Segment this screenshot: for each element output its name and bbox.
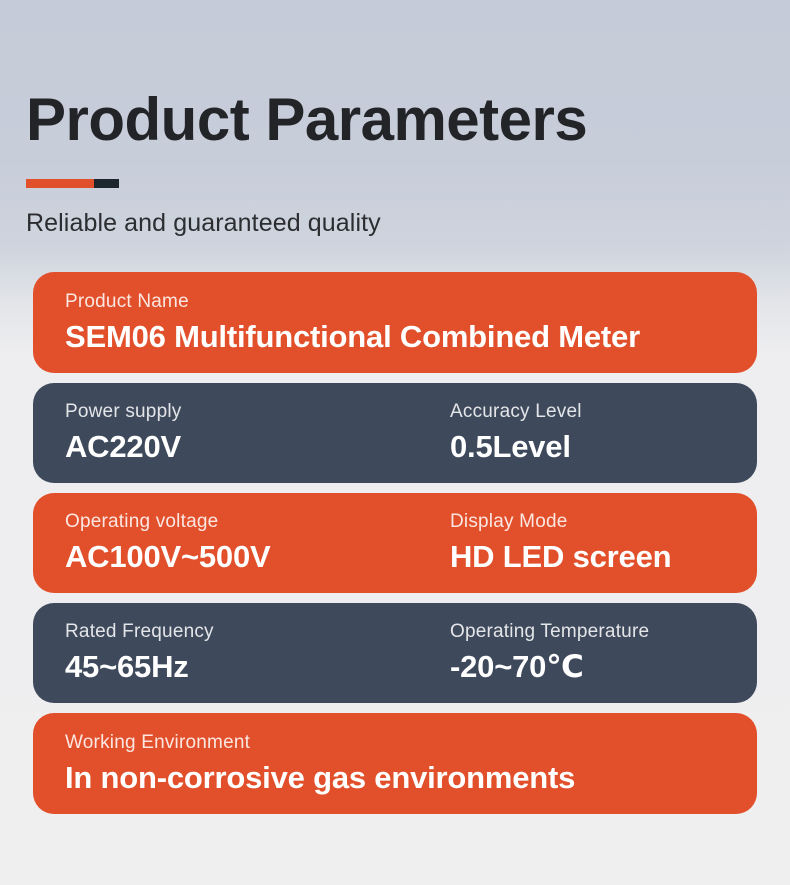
spec-card: Rated Frequency 45~65Hz Operating Temper… <box>33 603 757 703</box>
spec-card-list: Product Name SEM06 Multifunctional Combi… <box>0 272 790 814</box>
accent-divider <box>26 179 119 188</box>
spec-cell: Operating voltage AC100V~500V <box>65 511 450 574</box>
page-title: Product Parameters <box>26 0 790 150</box>
spec-cell: Product Name SEM06 Multifunctional Combi… <box>65 291 757 354</box>
spec-card: Product Name SEM06 Multifunctional Combi… <box>33 272 757 373</box>
spec-cell: Working Environment In non-corrosive gas… <box>65 732 757 795</box>
spec-value: 45~65Hz <box>65 649 450 685</box>
spec-label: Display Mode <box>450 511 757 534</box>
spec-cell: Accuracy Level 0.5Level <box>450 401 757 464</box>
spec-value: In non-corrosive gas environments <box>65 760 757 796</box>
spec-card: Working Environment In non-corrosive gas… <box>33 713 757 814</box>
spec-value: HD LED screen <box>450 539 757 575</box>
spec-label: Operating Temperature <box>450 621 757 644</box>
spec-label: Power supply <box>65 401 450 424</box>
page-header: Product Parameters Reliable and guarante… <box>0 0 790 238</box>
spec-label: Accuracy Level <box>450 401 757 424</box>
spec-value: AC220V <box>65 429 450 465</box>
spec-cell: Power supply AC220V <box>65 401 450 464</box>
spec-label: Product Name <box>65 291 757 314</box>
spec-value: 0.5Level <box>450 429 757 465</box>
spec-cell: Display Mode HD LED screen <box>450 511 757 574</box>
spec-value: AC100V~500V <box>65 539 450 575</box>
spec-label: Rated Frequency <box>65 621 450 644</box>
product-parameters-page: Product Parameters Reliable and guarante… <box>0 0 790 885</box>
page-subtitle: Reliable and guaranteed quality <box>26 188 790 238</box>
spec-card: Power supply AC220V Accuracy Level 0.5Le… <box>33 383 757 483</box>
accent-divider-orange-segment <box>26 179 94 188</box>
spec-label: Working Environment <box>65 732 757 755</box>
spec-cell: Rated Frequency 45~65Hz <box>65 621 450 684</box>
spec-card: Operating voltage AC100V~500V Display Mo… <box>33 493 757 593</box>
spec-value: SEM06 Multifunctional Combined Meter <box>65 319 757 355</box>
accent-divider-dark-segment <box>94 179 119 188</box>
spec-value: -20~70℃ <box>450 649 757 685</box>
spec-cell: Operating Temperature -20~70℃ <box>450 621 757 684</box>
spec-label: Operating voltage <box>65 511 450 534</box>
